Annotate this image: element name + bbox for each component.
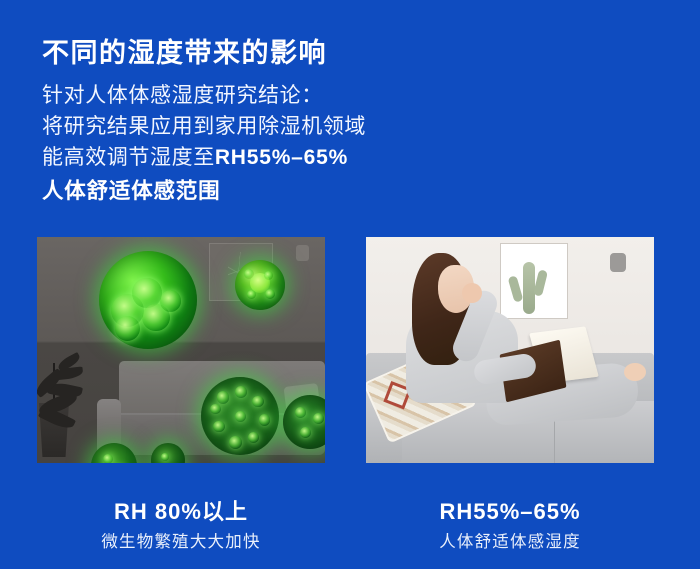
cactus-icon bbox=[523, 262, 535, 314]
woman-foot bbox=[624, 363, 646, 381]
wall-art-frame-icon bbox=[500, 243, 568, 319]
photo-comfort-humidity bbox=[366, 237, 654, 463]
caption-title: RH55%–65% bbox=[366, 498, 654, 526]
caption-subtitle: 人体舒适体感湿度 bbox=[366, 529, 654, 555]
caption-comfort-humidity: RH55%–65% 人体舒适体感湿度 bbox=[366, 498, 654, 555]
body-line-3: 能高效调节湿度至RH55%–65% bbox=[42, 142, 472, 173]
caption-high-humidity: RH 80%以上 微生物繁殖大大加快 bbox=[37, 498, 325, 555]
wall-speaker-icon bbox=[296, 245, 309, 261]
microbe-blob-icon bbox=[99, 251, 197, 349]
body-line-3-highlight: RH55%–65% bbox=[215, 146, 348, 169]
microbe-blob-icon bbox=[201, 377, 279, 455]
body-line-3-prefix: 能高效调节湿度至 bbox=[42, 146, 215, 169]
wall-speaker-icon bbox=[610, 253, 626, 272]
page-title: 不同的湿度带来的影响 bbox=[42, 37, 327, 71]
body-line-2: 将研究结果应用到家用除湿机领域 bbox=[42, 111, 472, 142]
photo-row bbox=[0, 237, 700, 463]
body-line-1: 针对人体体感湿度研究结论： bbox=[42, 80, 472, 111]
caption-title: RH 80%以上 bbox=[37, 498, 325, 526]
humidity-poster: 不同的湿度带来的影响 针对人体体感湿度研究结论： 将研究结果应用到家用除湿机领域… bbox=[0, 0, 700, 569]
caption-subtitle: 微生物繁殖大大加快 bbox=[37, 529, 325, 555]
woman-hand bbox=[462, 283, 482, 303]
body-copy: 针对人体体感湿度研究结论： 将研究结果应用到家用除湿机领域 能高效调节湿度至RH… bbox=[42, 80, 472, 207]
microbe-blob-icon bbox=[235, 260, 285, 310]
photo-high-humidity bbox=[37, 237, 325, 463]
body-line-4: 人体舒适体感范围 bbox=[42, 176, 472, 207]
